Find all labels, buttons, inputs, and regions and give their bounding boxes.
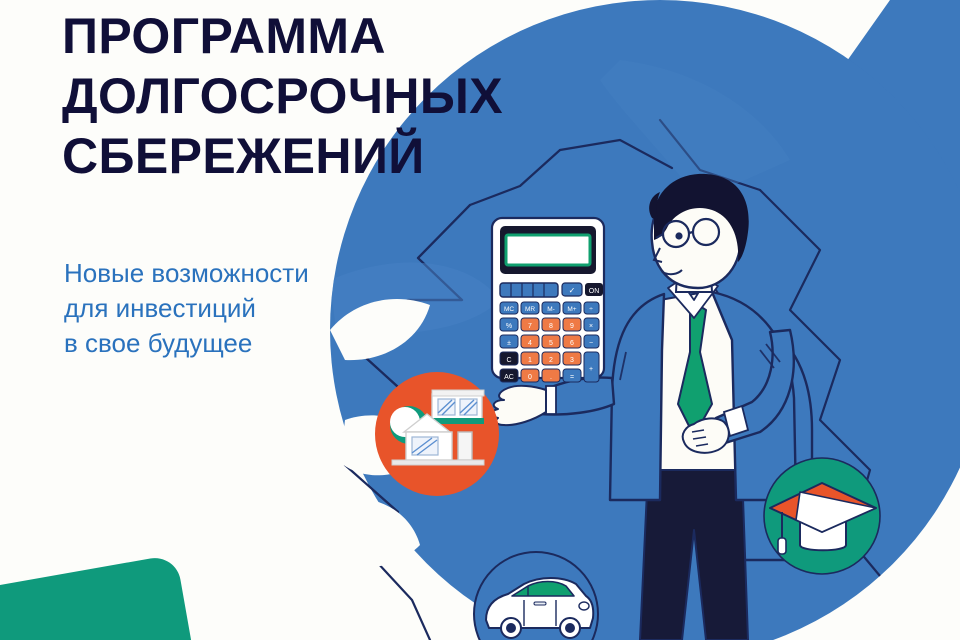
svg-text:1: 1 <box>528 357 532 364</box>
page-subtitle: Новые возможности для инвестиций в свое … <box>64 256 464 361</box>
headline-block: ПРОГРАММА ДОЛГОСРОЧНЫХ СБЕРЕЖЕНИЙ <box>62 6 532 186</box>
calculator-illustration: ✓ ON MC MR M- M+ ÷ % 7 8 9 <box>492 218 604 382</box>
svg-text:MC: MC <box>504 306 514 313</box>
svg-text:−: − <box>589 340 593 347</box>
svg-text:✓: ✓ <box>569 286 576 295</box>
svg-text:+: + <box>589 366 593 373</box>
calculator-slider <box>500 283 558 297</box>
svg-text:×: × <box>589 323 593 330</box>
svg-text:2: 2 <box>549 357 553 364</box>
svg-text:6: 6 <box>570 340 574 347</box>
poster-canvas: ✓ ON MC MR M- M+ ÷ % 7 8 9 <box>0 0 960 640</box>
svg-text:0: 0 <box>528 374 532 381</box>
house-icon <box>375 372 499 496</box>
svg-text:=: = <box>570 374 574 381</box>
svg-text:÷: ÷ <box>589 306 593 313</box>
svg-text:C: C <box>506 357 511 364</box>
svg-text:ON: ON <box>589 288 600 295</box>
svg-text:5: 5 <box>549 340 553 347</box>
eye <box>675 232 682 239</box>
svg-text:M-: M- <box>547 306 555 313</box>
svg-text:9: 9 <box>570 323 574 330</box>
svg-text:8: 8 <box>549 323 553 330</box>
svg-text:MR: MR <box>525 306 535 313</box>
svg-text:3: 3 <box>570 357 574 364</box>
svg-text:.: . <box>550 374 552 381</box>
svg-text:AC: AC <box>504 374 514 381</box>
svg-text:M+: M+ <box>567 306 576 313</box>
svg-text:7: 7 <box>528 323 532 330</box>
page-title: ПРОГРАММА ДОЛГОСРОЧНЫХ СБЕРЕЖЕНИЙ <box>62 6 532 186</box>
svg-text:±: ± <box>507 340 511 347</box>
graduation-cap-icon <box>764 458 880 574</box>
svg-text:%: % <box>506 323 512 330</box>
svg-text:4: 4 <box>528 340 532 347</box>
calculator-display <box>506 235 590 265</box>
